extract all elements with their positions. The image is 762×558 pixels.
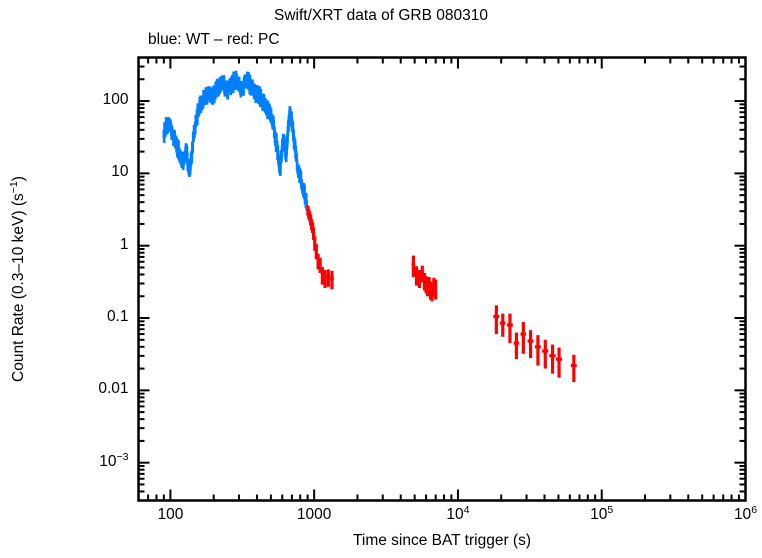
pc-data-point <box>514 333 519 360</box>
x-tick-label: 106 <box>706 506 762 524</box>
pc-data-point <box>571 355 577 382</box>
pc-data-point <box>542 340 548 369</box>
pc-data-point <box>549 345 555 374</box>
pc-data-point <box>535 335 541 365</box>
x-tick-label: 104 <box>418 506 498 524</box>
plot-canvas <box>0 0 762 558</box>
pc-data-point <box>330 271 334 289</box>
pc-data-point <box>327 269 330 286</box>
pc-data-point <box>528 330 534 358</box>
x-tick-label: 1000 <box>274 506 354 524</box>
pc-data-point <box>500 314 505 337</box>
y-tick-label: 1 <box>43 236 129 254</box>
y-tick-label: 0.01 <box>43 380 129 398</box>
pc-data-point <box>411 256 415 277</box>
light-curve-figure: Swift/XRT data of GRB 080310 blue: WT – … <box>0 0 762 558</box>
pc-data-point <box>324 270 327 288</box>
pc-data-point <box>520 322 526 354</box>
pc-data-point <box>415 266 418 285</box>
y-tick-label: 10−3 <box>43 453 129 471</box>
x-tick-label: 105 <box>562 506 642 524</box>
y-tick-label: 100 <box>43 91 129 109</box>
pc-series <box>308 205 577 382</box>
pc-data-point <box>435 280 437 300</box>
y-tick-label: 0.1 <box>43 308 129 326</box>
pc-data-point <box>418 270 421 288</box>
pc-data-point <box>556 348 562 378</box>
plot-frame <box>139 58 746 501</box>
wt-series <box>164 71 307 211</box>
x-tick-label: 100 <box>130 506 210 524</box>
y-tick-label: 10 <box>43 163 129 181</box>
pc-data-point <box>493 305 499 334</box>
pc-data-point <box>507 314 513 343</box>
pc-data-point <box>321 267 323 285</box>
